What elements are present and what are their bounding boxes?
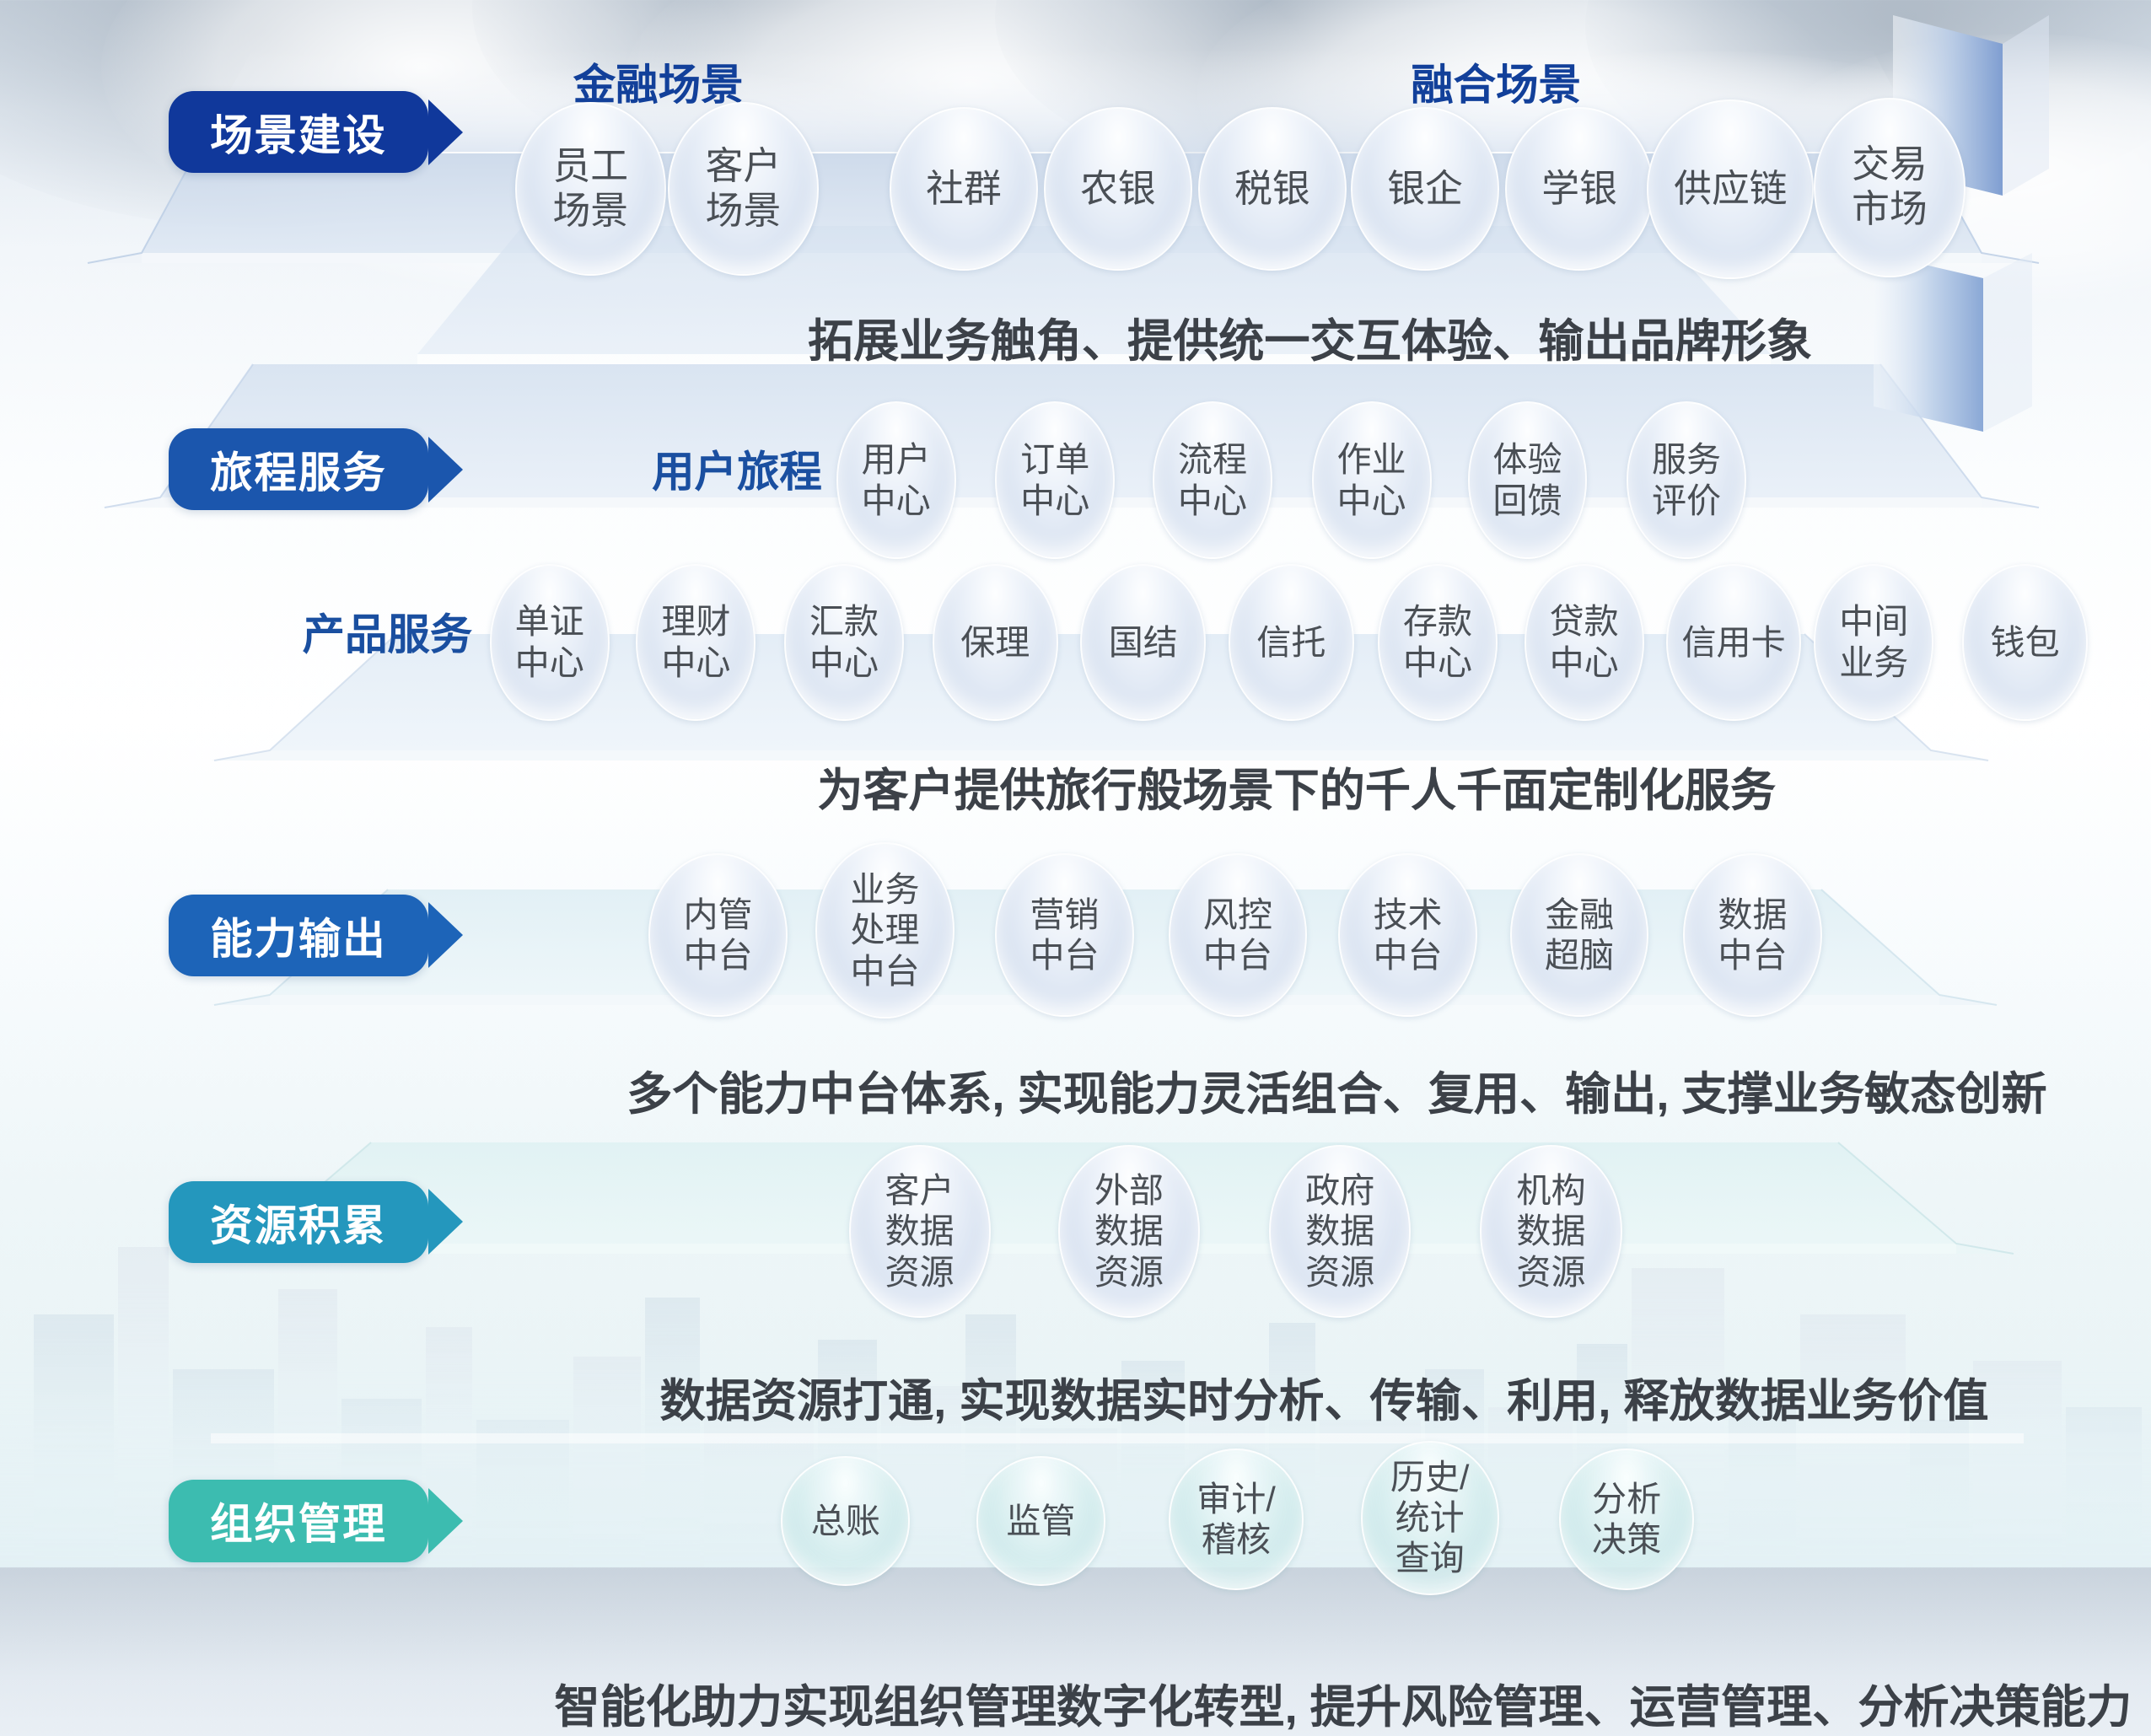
bubble-line: 营销 [1030,895,1099,935]
bubble-line: 分析 [1592,1479,1661,1519]
bubble-line: 中台 [1373,935,1442,975]
bubble-line: 农银 [1080,167,1156,212]
node-bubble[interactable]: 交易市场 [1814,98,1965,277]
node-bubble[interactable]: 客户数据资源 [849,1145,991,1318]
bubble-line: 外部 [1094,1170,1164,1211]
stage-badge-resource-label: 资源积累 [210,1191,387,1253]
stage-badge-journey-label: 旅程服务 [210,438,387,500]
stage-badge-capability-label: 能力输出 [210,905,387,966]
bubble-line: 订单 [1020,439,1089,480]
bubble-line: 中心 [1020,481,1089,521]
bubble-line: 流程 [1178,439,1247,480]
bubble-line: 金融 [1545,895,1614,935]
bubble-line: 内管 [683,895,752,935]
bubble-line: 贷款 [1550,601,1619,642]
bubble-line: 体验 [1492,439,1562,480]
bubble-line: 中心 [1336,481,1406,521]
tier-caption: 为客户提供旅行般场景下的千人千面定制化服务 [817,753,1776,820]
node-bubble[interactable]: 钱包 [1962,564,2088,722]
bubble-line: 统计 [1390,1497,1470,1538]
bubble-line: 中台 [1030,935,1099,975]
node-bubble[interactable]: 用户中心 [836,401,956,559]
tier-caption: 数据资源打通, 实现数据实时分析、传输、利用, 释放数据业务价值 [659,1363,1988,1430]
tier-caption: 多个能力中台体系, 实现能力灵活组合、复用、输出, 支撑业务敏态创新 [626,1056,2046,1123]
bubble-line: 中心 [515,642,584,683]
node-bubble[interactable]: 中间业务 [1814,564,1933,722]
bubble-line: 技术 [1373,895,1442,935]
bubble-line: 业务 [850,869,919,910]
bubble-line: 决策 [1592,1519,1661,1560]
tier-caption: 拓展业务触角、提供统一交互体验、输出品牌形象 [808,304,1812,370]
bubble-line: 中台 [683,935,752,975]
bubble-line: 存款 [1403,601,1472,642]
node-bubble[interactable]: 供应链 [1647,99,1814,279]
node-bubble[interactable]: 体验回馈 [1468,401,1588,559]
bubble-line: 中台 [850,951,919,992]
tier-caption: 智能化助力实现组织管理数字化转型, 提升风险管理、运营管理、分析决策能力 [554,1669,2132,1736]
bubble-line: 社群 [926,167,1002,212]
node-bubble[interactable]: 机构数据资源 [1480,1145,1621,1318]
node-bubble[interactable]: 汇款中心 [784,564,904,722]
group-heading-user-journey: 用户旅程 [652,438,822,499]
stage-badge-scene-label: 场景建设 [210,101,387,163]
bubble-line: 中间 [1839,601,1908,642]
bubble-line: 稽核 [1196,1519,1276,1560]
node-bubble[interactable]: 贷款中心 [1525,564,1644,722]
bubble-line: 中心 [1550,642,1619,683]
node-bubble[interactable]: 流程中心 [1153,401,1272,559]
bubble-line: 供应链 [1674,167,1787,212]
node-bubble[interactable]: 理财中心 [636,564,756,722]
bubble-line: 中心 [1403,642,1472,683]
bubble-line: 用户 [862,439,931,480]
bubble-line: 政府 [1305,1170,1374,1211]
node-bubble[interactable]: 银企 [1351,107,1499,271]
bubble-line: 数据 [1516,1211,1585,1251]
node-bubble[interactable]: 总账 [781,1456,910,1585]
node-bubble[interactable]: 作业中心 [1312,401,1432,559]
bubble-line: 评价 [1652,481,1721,521]
bubble-line: 服务 [1652,439,1721,480]
stage-badge-organization-label: 组织管理 [210,1490,387,1551]
bubble-line: 资源 [1094,1252,1164,1293]
bubble-line: 审计/ [1196,1479,1276,1519]
node-bubble[interactable]: 技术中台 [1338,853,1476,1017]
node-bubble[interactable]: 信托 [1229,564,1354,722]
node-bubble[interactable]: 员工场景 [515,102,666,275]
bubble-line: 数据 [1718,895,1787,935]
node-bubble[interactable]: 金融超脑 [1510,853,1648,1017]
bubble-line: 钱包 [1991,622,2060,663]
bubble-line: 作业 [1336,439,1406,480]
bubble-line: 处理 [850,910,919,950]
bubble-line: 中心 [809,642,879,683]
bubble-line: 税银 [1234,167,1310,212]
bubble-line: 数据 [1094,1211,1164,1251]
bubble-line: 客户 [706,144,782,189]
node-bubble[interactable]: 营销中台 [995,853,1133,1017]
node-bubble[interactable]: 学银 [1505,107,1654,271]
bubble-line: 信用卡 [1681,622,1785,663]
stage-badge-scene[interactable]: 场景建设 [169,91,428,173]
bubble-line: 总账 [811,1501,880,1541]
stage-badge-resource[interactable]: 资源积累 [169,1181,428,1263]
node-bubble[interactable]: 单证中心 [490,564,610,722]
node-bubble[interactable]: 保理 [933,564,1058,722]
bubble-line: 资源 [885,1252,955,1293]
node-bubble[interactable]: 政府数据资源 [1269,1145,1411,1318]
node-bubble[interactable]: 税银 [1198,107,1347,271]
bubble-line: 中心 [862,481,931,521]
node-bubble[interactable]: 农银 [1044,107,1192,271]
bubble-line: 国结 [1109,622,1178,663]
bubble-line: 交易 [1852,142,1928,187]
node-bubble[interactable]: 数据中台 [1683,853,1821,1017]
node-bubble[interactable]: 审计/稽核 [1169,1448,1304,1590]
bubble-line: 回馈 [1492,481,1562,521]
bubble-line: 单证 [515,601,584,642]
node-bubble[interactable]: 监管 [976,1456,1105,1585]
node-bubble[interactable]: 客户场景 [668,102,819,275]
bubble-line: 数据 [1305,1211,1374,1251]
bubble-line: 客户 [885,1170,955,1211]
bubble-line: 资源 [1305,1252,1374,1293]
bubble-line: 历史/ [1390,1457,1470,1497]
node-bubble[interactable]: 内管中台 [648,853,787,1017]
node-bubble[interactable]: 外部数据资源 [1058,1145,1200,1318]
bubble-line: 信托 [1256,622,1326,663]
bubble-line: 数据 [885,1211,955,1251]
node-bubble[interactable]: 社群 [890,107,1038,271]
bubble-line: 业务 [1839,642,1908,683]
bubble-line: 汇款 [809,601,879,642]
node-bubble[interactable]: 风控中台 [1169,853,1307,1017]
node-bubble[interactable]: 业务处理中台 [815,842,954,1018]
node-bubble[interactable]: 服务评价 [1627,401,1746,559]
bubble-line: 学银 [1541,167,1617,212]
stage-badge-journey[interactable]: 旅程服务 [169,428,428,510]
bubble-line: 资源 [1516,1252,1585,1293]
node-bubble[interactable]: 订单中心 [995,401,1115,559]
bubble-line: 中台 [1203,935,1272,975]
bubble-line: 理财 [661,601,730,642]
bubble-line: 银企 [1387,167,1463,212]
group-heading-fusion-scene: 融合场景 [1411,51,1581,112]
node-bubble[interactable]: 历史/统计查询 [1361,1441,1499,1595]
bubble-line: 中心 [661,642,730,683]
bubble-line: 风控 [1203,895,1272,935]
bubble-line: 中心 [1178,481,1247,521]
bubble-line: 市场 [1852,187,1928,232]
bubble-line: 中台 [1718,935,1787,975]
bubble-line: 机构 [1516,1170,1585,1211]
node-bubble[interactable]: 分析决策 [1559,1448,1695,1590]
bubble-line: 监管 [1006,1501,1075,1541]
node-bubble[interactable]: 信用卡 [1666,564,1802,722]
bubble-line: 场景 [706,189,782,234]
group-heading-product-service: 产品服务 [303,600,473,662]
bubble-line: 保理 [960,622,1030,663]
bubble-line: 员工 [552,144,628,189]
stage-badge-organization[interactable]: 组织管理 [169,1480,428,1561]
node-bubble[interactable]: 存款中心 [1378,564,1498,722]
bubble-line: 查询 [1390,1538,1470,1578]
node-bubble[interactable]: 国结 [1080,564,1206,722]
bubble-line: 场景 [552,189,628,234]
bubble-line: 超脑 [1545,935,1614,975]
stage-badge-capability[interactable]: 能力输出 [169,895,428,976]
